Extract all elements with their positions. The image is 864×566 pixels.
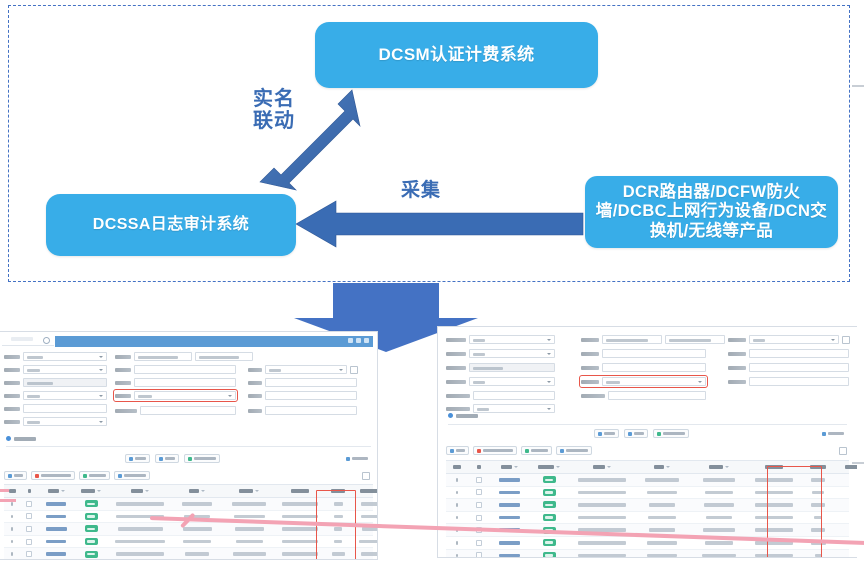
form-field-row[interactable] bbox=[446, 377, 555, 386]
column-header-index[interactable] bbox=[446, 465, 468, 469]
form-field-row[interactable] bbox=[446, 391, 555, 400]
form-field-row[interactable] bbox=[4, 417, 107, 426]
left-table-toolbar[interactable] bbox=[4, 471, 150, 480]
query-button[interactable] bbox=[594, 429, 619, 438]
table-settings-icon[interactable] bbox=[839, 447, 847, 455]
form-field-row[interactable] bbox=[4, 404, 107, 413]
slide-canvas: DCSM认证计费系统 DCSSA日志审计系统 DCR路由器/DCFW防火墙/DC… bbox=[0, 0, 864, 566]
form-field-row[interactable] bbox=[4, 365, 107, 374]
maximize-icon[interactable] bbox=[356, 338, 361, 343]
reset-button[interactable] bbox=[624, 429, 648, 438]
link-account-button[interactable] bbox=[556, 446, 592, 455]
form-field-source-ip[interactable] bbox=[581, 349, 706, 358]
column-header-dest-ip[interactable] bbox=[222, 489, 276, 493]
column-header-source-ip[interactable] bbox=[634, 465, 690, 469]
export-report-button[interactable] bbox=[184, 454, 220, 463]
form-field-row[interactable] bbox=[728, 377, 849, 386]
form-field-row[interactable] bbox=[728, 363, 849, 372]
export-report-button[interactable] bbox=[653, 429, 689, 438]
export-button[interactable] bbox=[79, 471, 110, 480]
left-window-titlebar bbox=[55, 336, 373, 347]
search-input[interactable] bbox=[11, 337, 33, 341]
accent-line-left bbox=[0, 499, 16, 502]
column-header-time[interactable] bbox=[570, 465, 634, 469]
form-field-row[interactable] bbox=[248, 378, 357, 387]
form-field-row[interactable] bbox=[581, 391, 706, 400]
form-field-row[interactable] bbox=[4, 352, 107, 361]
left-search-bar[interactable] bbox=[2, 335, 54, 346]
search-icon bbox=[43, 337, 50, 344]
form-field-protocol-highlighted[interactable] bbox=[115, 391, 236, 400]
form-field-row[interactable] bbox=[115, 406, 236, 415]
right-query-buttons[interactable] bbox=[594, 429, 689, 438]
column-header-dest-ip[interactable] bbox=[690, 465, 748, 469]
form-field-row[interactable] bbox=[248, 391, 357, 400]
column-header-type[interactable] bbox=[490, 465, 528, 469]
edge-tick-lower bbox=[852, 462, 864, 464]
form-field-row[interactable] bbox=[4, 378, 107, 387]
add-button[interactable] bbox=[4, 471, 27, 480]
window-controls[interactable] bbox=[348, 338, 369, 343]
arrow-label-realname-line1: 实名 bbox=[243, 88, 305, 110]
node-dcsm-auth-billing-system: DCSM认证计费系统 bbox=[315, 22, 598, 88]
close-icon[interactable] bbox=[364, 338, 369, 343]
left-section-label bbox=[6, 436, 36, 441]
query-button[interactable] bbox=[125, 454, 150, 463]
column-header-select[interactable] bbox=[468, 465, 490, 469]
accent-line-left-upper bbox=[0, 489, 9, 492]
link-account-button[interactable] bbox=[114, 471, 150, 480]
form-field-row[interactable] bbox=[115, 365, 236, 374]
column-header-time[interactable] bbox=[108, 489, 172, 493]
column-header-source-ip[interactable] bbox=[172, 489, 222, 493]
form-field-row[interactable] bbox=[4, 391, 107, 400]
form-field-user[interactable] bbox=[446, 363, 555, 372]
arrow-label-realname-line2: 联动 bbox=[243, 110, 305, 132]
batch-delete-button[interactable] bbox=[473, 446, 517, 455]
divider bbox=[448, 424, 847, 425]
screenshot-right-device-collection[interactable] bbox=[437, 326, 857, 558]
section-title bbox=[14, 437, 36, 441]
column-header-realname-account-highlighted[interactable] bbox=[836, 465, 857, 469]
advanced-search-toggle[interactable] bbox=[343, 454, 371, 463]
right-column-highlight-realname-account bbox=[767, 466, 822, 558]
left-query-buttons[interactable] bbox=[125, 454, 220, 463]
right-section-label bbox=[448, 413, 478, 418]
left-advanced-toggle[interactable] bbox=[343, 454, 371, 463]
export-button[interactable] bbox=[521, 446, 552, 455]
section-dot-icon bbox=[448, 413, 453, 418]
minimize-icon[interactable] bbox=[348, 338, 353, 343]
edge-tick-upper bbox=[852, 85, 864, 87]
divider bbox=[6, 446, 371, 447]
form-field-dest-ip[interactable] bbox=[581, 363, 706, 372]
node-network-devices: DCR路由器/DCFW防火墙/DCBC上网行为设备/DCN交换机/无线等产品 bbox=[585, 176, 838, 248]
right-table-toolbar[interactable] bbox=[446, 446, 592, 455]
section-title bbox=[456, 414, 478, 418]
form-field-row[interactable] bbox=[728, 349, 849, 358]
column-header-status[interactable] bbox=[74, 489, 108, 493]
arrow-label-collect: 采集 bbox=[381, 180, 461, 201]
advanced-search-toggle[interactable] bbox=[819, 429, 847, 438]
batch-delete-button[interactable] bbox=[31, 471, 75, 480]
column-header-type[interactable] bbox=[38, 489, 74, 493]
form-field-product[interactable] bbox=[728, 335, 850, 344]
form-field-row[interactable] bbox=[446, 335, 555, 344]
form-field-row[interactable] bbox=[248, 406, 357, 415]
add-button[interactable] bbox=[446, 446, 469, 455]
form-field-row[interactable] bbox=[248, 365, 358, 374]
column-header-status[interactable] bbox=[528, 465, 570, 469]
form-field-source-ip[interactable] bbox=[115, 378, 236, 387]
form-field-row[interactable] bbox=[446, 349, 555, 358]
right-advanced-toggle[interactable] bbox=[819, 429, 847, 438]
section-dot-icon bbox=[6, 436, 11, 441]
node-dcssa-log-audit-system: DCSSA日志审计系统 bbox=[46, 194, 296, 256]
form-field-protocol-highlighted[interactable] bbox=[581, 377, 706, 386]
reset-button[interactable] bbox=[155, 454, 179, 463]
form-field-time-range[interactable] bbox=[115, 352, 253, 361]
left-query-form[interactable] bbox=[0, 350, 377, 428]
column-header-select[interactable] bbox=[20, 489, 38, 493]
form-field-row[interactable] bbox=[446, 404, 555, 413]
arrow-label-realname: 实名 联动 bbox=[243, 88, 305, 133]
table-settings-icon[interactable] bbox=[362, 472, 370, 480]
form-field-time-range[interactable] bbox=[581, 335, 725, 344]
right-query-form[interactable] bbox=[438, 333, 857, 415]
